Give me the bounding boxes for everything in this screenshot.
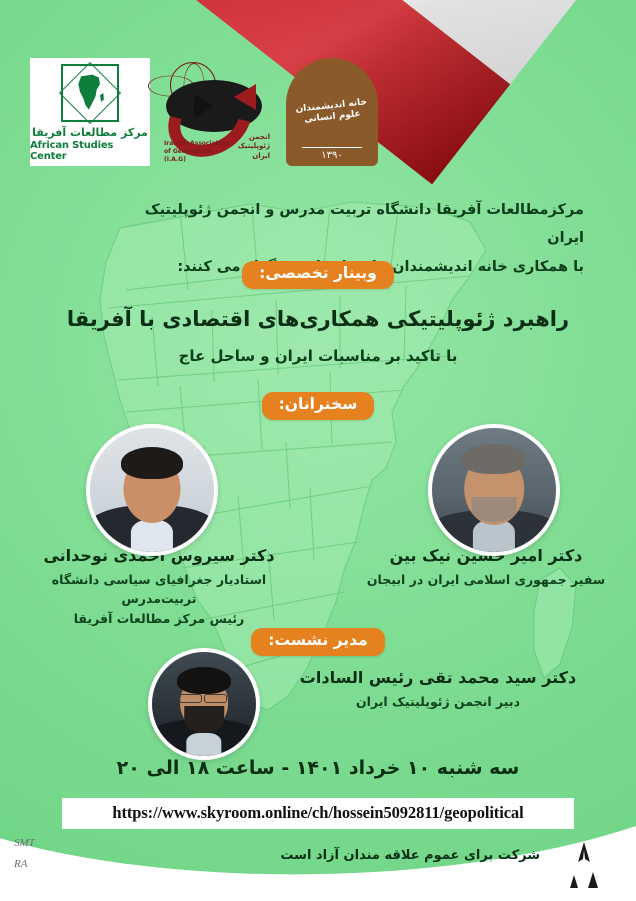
iag-caption-en-line1: Iranian Association [164, 140, 229, 148]
portrait-3-hair [177, 667, 231, 694]
speaker-2-affiliation-line1: سفیر جمهوری اسلامی ایران در ابیجان [352, 570, 620, 589]
ihss-logo-calligraphy: خانه اندیشمندان علوم انسانی [285, 96, 379, 128]
speaker-photo-nikbin [428, 424, 560, 556]
portrait-3-beard [184, 706, 224, 733]
watermark-line2: RA [14, 854, 35, 875]
portrait-1-shirt [131, 520, 173, 552]
webinar-poster: خانه اندیشمندان علوم انسانی ۱۳۹۰ Iranian… [0, 0, 636, 901]
speaker-photo-ahmadi-nohdani [86, 424, 218, 556]
watermark-line1: SMT [14, 833, 35, 854]
corner-watermark-logo: ​ [548, 841, 620, 889]
corner-logo-glyph-bottom-icon [561, 869, 607, 889]
event-title: راهبرد ژئوپلیتیکی همکاری‌های اقتصادی با … [0, 307, 636, 331]
portrait-2-beard [472, 497, 517, 522]
webinar-badge-row: وبینار تخصصی: [0, 261, 636, 289]
africa-continent-icon [73, 73, 107, 113]
badge-webinar: وبینار تخصصی: [242, 261, 394, 289]
ihss-logo: خانه اندیشمندان علوم انسانی ۱۳۹۰ [286, 58, 378, 166]
corner-logo-glyph-top-icon [561, 841, 607, 863]
glasses-icon [179, 694, 202, 703]
corner-logo-caption: ​ [548, 863, 620, 868]
glasses-right-lens-icon [204, 694, 227, 703]
speaker-1-affiliation: استادیار جغرافیای سیاسی دانشگاه تربیت‌مد… [18, 570, 300, 628]
organizers-intro-line1: مرکزمطالعات آفریقا دانشگاه تربیت مدرس و … [114, 196, 584, 253]
speaker-1-affiliation-line2: رئیس مرکز مطالعات آفریقا [18, 609, 300, 628]
asc-diamond-frame [61, 64, 119, 122]
speaker-1-portrait [90, 428, 214, 552]
event-subtitle: با تاکید بر مناسبات ایران و ساحل عاج [0, 347, 636, 365]
iag-caption-fa-line3: ایران [238, 152, 270, 162]
badge-moderator: مدیر نشست: [251, 628, 384, 656]
asc-label-en: African Studies Center [30, 140, 150, 162]
portrait-2-hair [462, 444, 526, 474]
iag-caption-en-line2: of Geopolitics [164, 148, 229, 156]
smt-ra-watermark: SMT RA [14, 833, 35, 875]
iag-caption-fa-line1: انجمن [238, 133, 270, 143]
organizer-logos: خانه اندیشمندان علوم انسانی ۱۳۹۰ Iranian… [30, 58, 378, 166]
ihss-logo-year: ۱۳۹۰ [302, 147, 362, 161]
speakers-badge-row: سخنرانان: [0, 392, 636, 420]
moderator-photo-raees-alsadat [148, 648, 260, 760]
asc-label-fa: مرکز مطالعات آفریقا [32, 126, 148, 139]
speaker-2-affiliation: سفیر جمهوری اسلامی ایران در ابیجان [352, 570, 620, 589]
iag-logo: Iranian Association of Geopolitics (I.A.… [164, 58, 272, 166]
free-participation-note: شرکت برای عموم علاقه مندان آزاد است [280, 848, 540, 863]
iag-red-arrow-icon [234, 84, 256, 110]
moderator-affiliation: دبیر انجمن ژئوپلیتیک ایران [268, 692, 608, 711]
portrait-1-hair [121, 447, 183, 479]
badge-speakers: سخنرانان: [262, 392, 375, 420]
speaker-1-affiliation-line1: استادیار جغرافیای سیاسی دانشگاه تربیت‌مد… [18, 570, 300, 609]
iag-logo-caption-fa: انجمن ژئوپلیتیک ایران [238, 133, 270, 162]
speaker-2-portrait [432, 428, 556, 552]
iag-caption-en-line3: (I.A.G) [164, 156, 229, 164]
portrait-3-shirt [186, 733, 221, 756]
moderator-portrait [152, 652, 256, 756]
african-studies-center-logo: مرکز مطالعات آفریقا African Studies Cent… [30, 58, 150, 166]
event-datetime: سه شنبه ۱۰ خرداد ۱۴۰۱ - ساعت ۱۸ الی ۲۰ [0, 757, 636, 779]
iag-black-arrow-icon [194, 94, 214, 118]
moderator-badge-row: مدیر نشست: [0, 628, 636, 656]
iag-caption-fa-line2: ژئوپلیتیک [238, 142, 270, 152]
moderator-name: دکتر سید محمد تقی رئیس السادات [268, 668, 608, 687]
webinar-url[interactable]: https://www.skyroom.online/ch/hossein509… [62, 798, 574, 829]
iag-logo-caption-en: Iranian Association of Geopolitics (I.A.… [164, 140, 229, 164]
